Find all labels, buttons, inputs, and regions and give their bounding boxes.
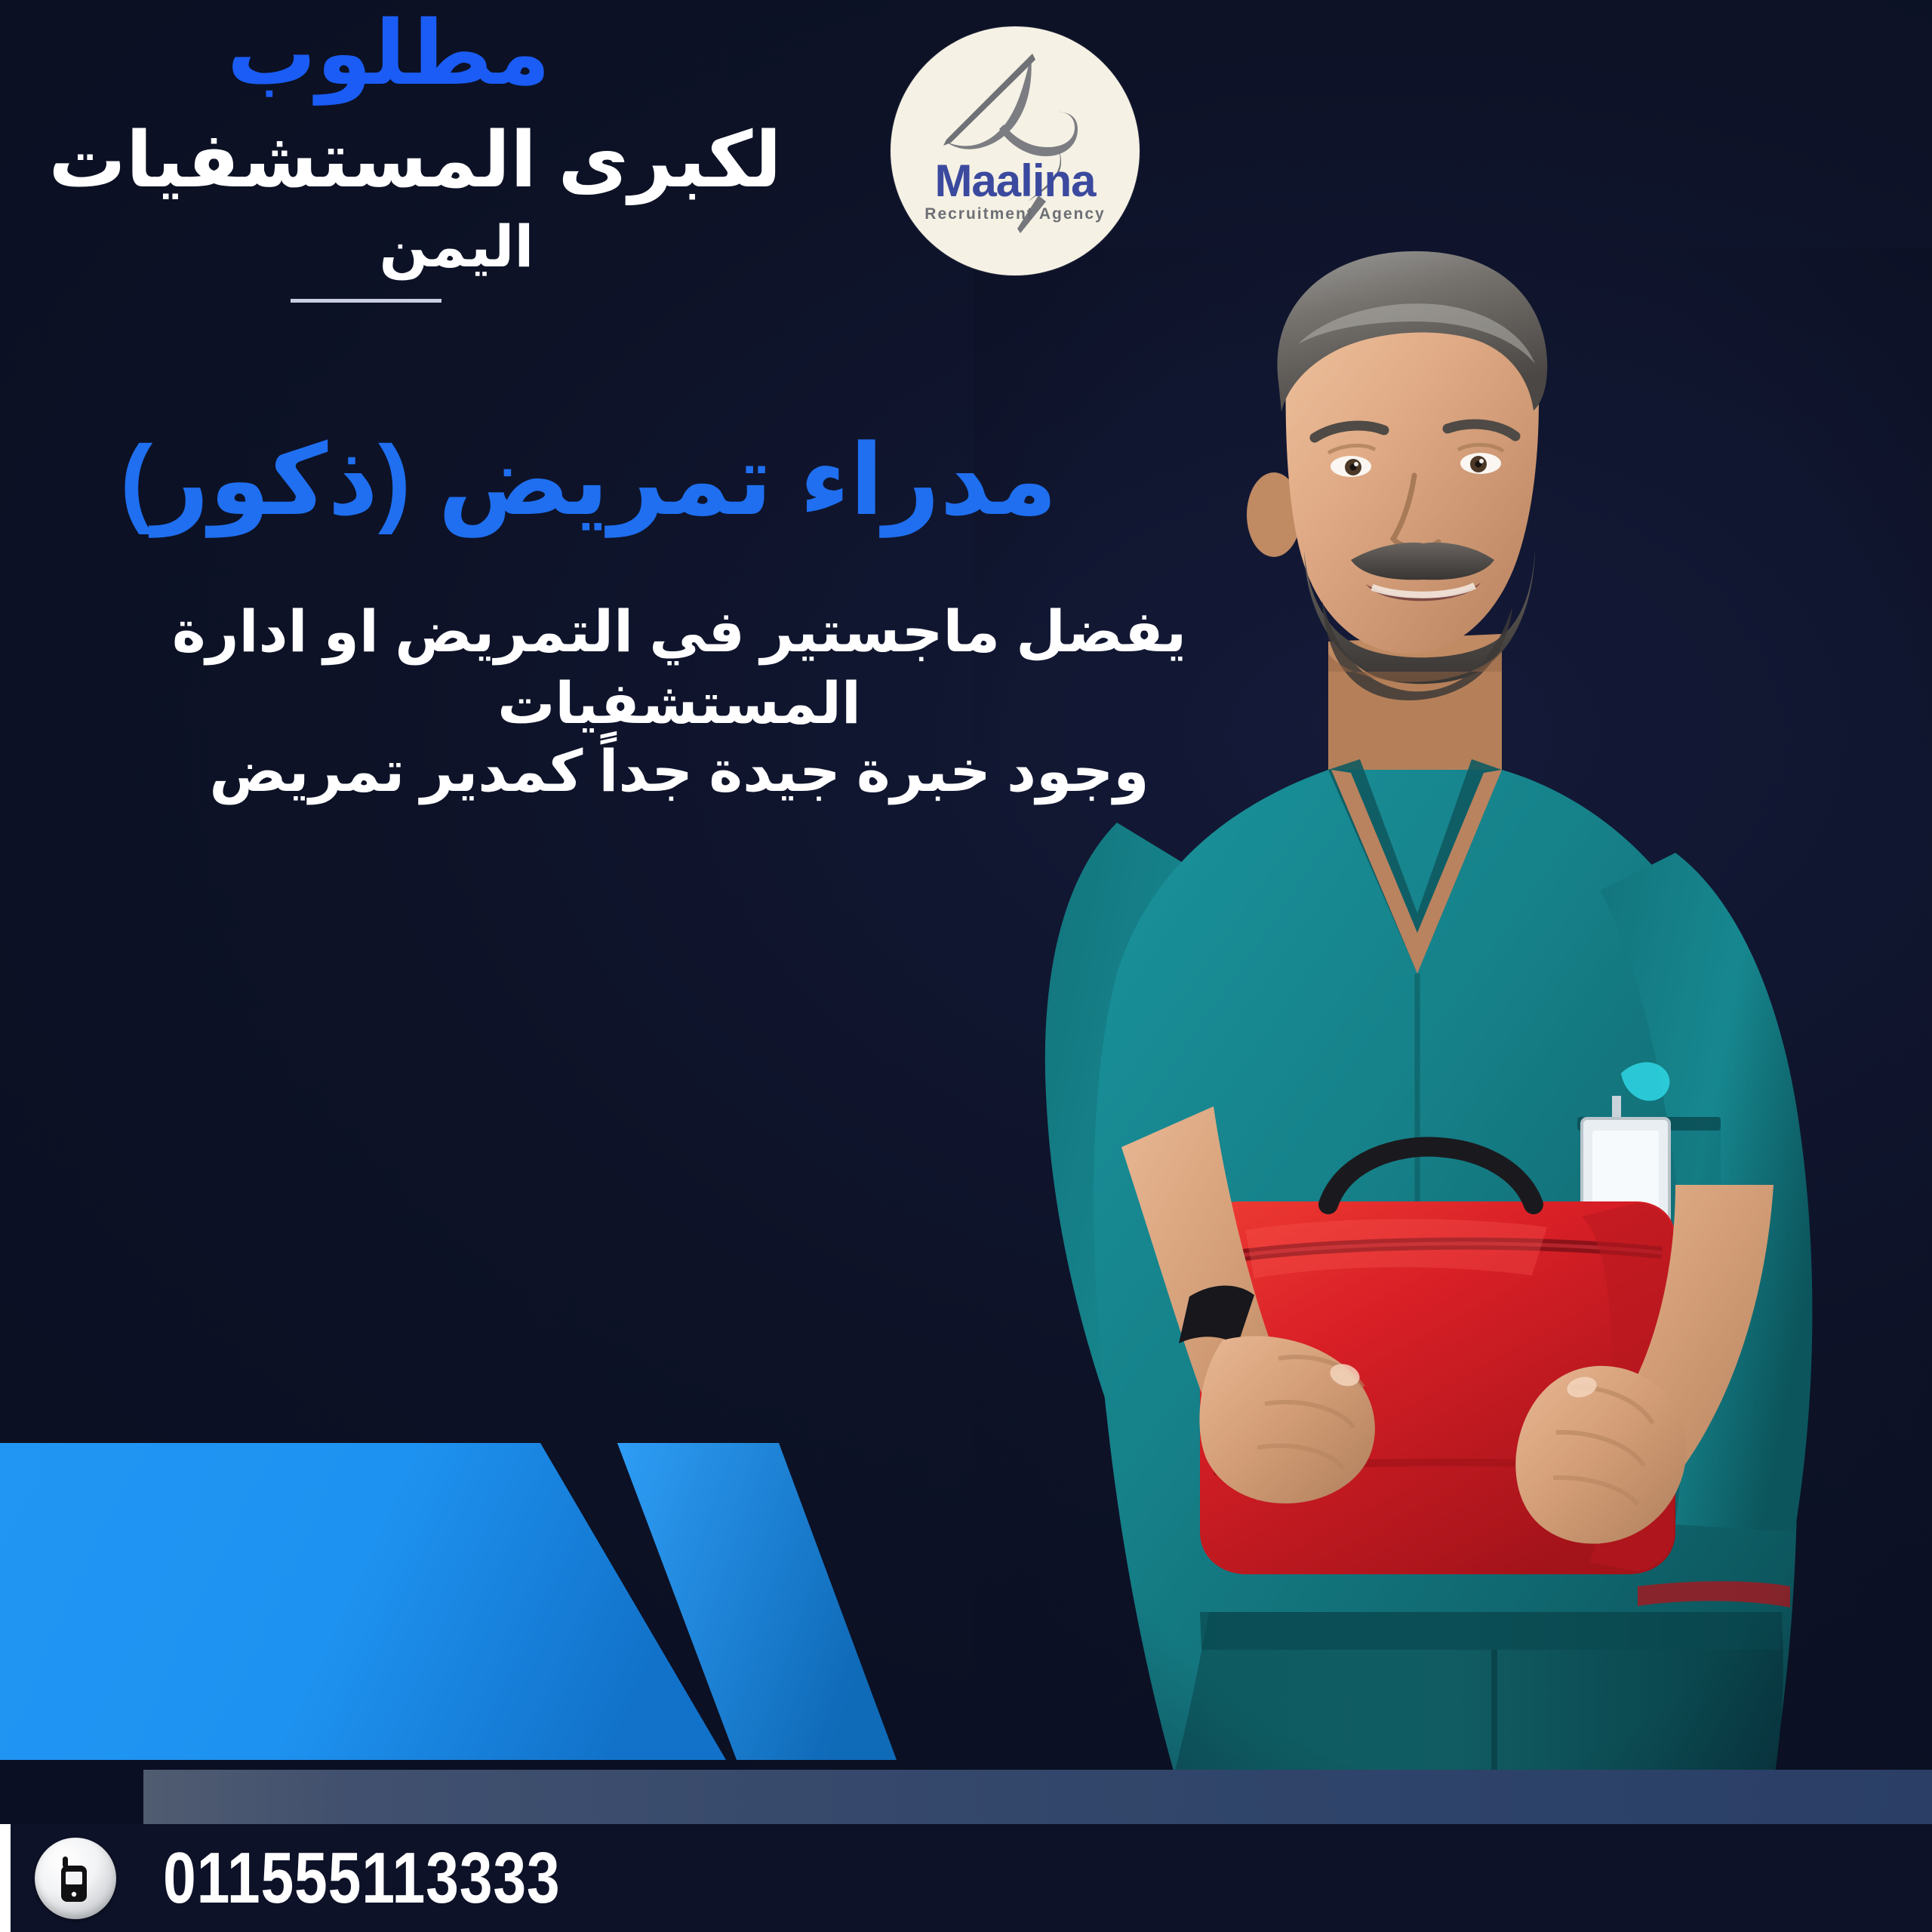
footer-left-edge — [0, 1824, 11, 1932]
hospitals-subtitle: لكبرى المستشفيات — [0, 118, 838, 202]
job-title: مدراء تمريض (ذكور) — [91, 426, 1087, 534]
recruitment-poster: مطلوب لكبرى المستشفيات اليمن Maalina Rec… — [0, 0, 1932, 1932]
logo-tagline-text: Recruitment Agency — [891, 206, 1140, 222]
phone-badge[interactable] — [35, 1838, 116, 1919]
logo-name-text: Maalina — [891, 158, 1140, 204]
slate-bar-notch — [0, 1770, 143, 1824]
country-label: اليمن — [0, 216, 838, 279]
requirement-line-2: وجود خبرة جيدة جداً كمدير تمريض — [151, 736, 1207, 808]
nurse-photo — [974, 249, 1932, 1774]
agency-logo[interactable]: Maalina Recruitment Agency — [891, 26, 1140, 275]
wanted-kicker: مطلوب — [0, 8, 838, 101]
header-text-block: مطلوب لكبرى المستشفيات اليمن — [0, 8, 838, 303]
slate-divider-bar — [0, 1770, 1932, 1824]
contact-footer: 011555113333 — [0, 1824, 1932, 1932]
mobile-phone-icon — [56, 1854, 95, 1903]
parallelogram-main — [0, 1443, 726, 1760]
requirement-line-1: يفضل ماجستير في التمريض او ادارة المستشف… — [15, 596, 1343, 740]
logo-swoosh-icon — [891, 26, 1140, 275]
logo-disc: Maalina Recruitment Agency — [891, 26, 1140, 275]
decorative-parallelograms — [0, 1419, 1057, 1796]
phone-number[interactable]: 011555113333 — [163, 1842, 561, 1915]
header-divider — [291, 299, 441, 303]
